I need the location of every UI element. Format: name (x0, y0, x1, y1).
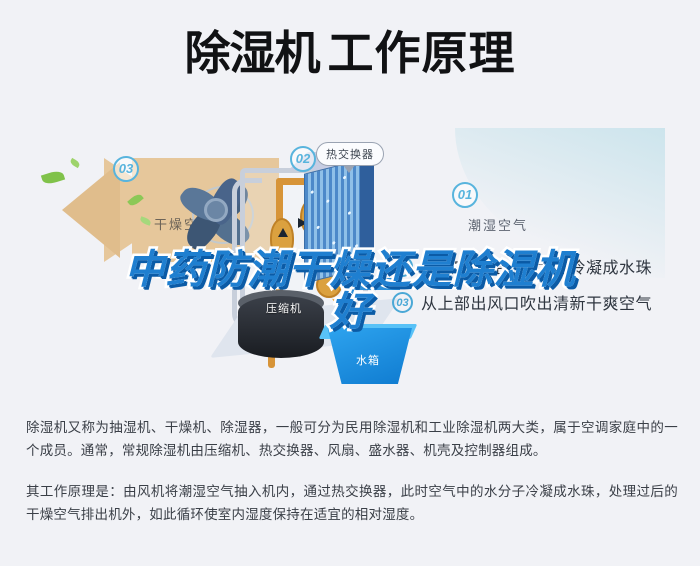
list-item: 02 潮湿空气经过蒸发器冷凝成水珠 (392, 248, 692, 284)
page-header: 除湿机工作原理 (0, 18, 700, 98)
step-bullet-list: 02 潮湿空气经过蒸发器冷凝成水珠 03 从上部出风口吹出清新干爽空气 (392, 248, 692, 320)
bullet-badge: 03 (392, 292, 413, 313)
condensation-droplets (305, 160, 365, 283)
humid-air-label: 潮湿空气 (468, 215, 528, 234)
dry-air-arrow-head (62, 162, 120, 258)
diagram-badge-01-label: 01 (458, 187, 472, 202)
page-title-part-a: 除湿机 (185, 27, 320, 79)
bullet-badge: 02 (392, 256, 413, 277)
evaporator-fins (304, 158, 366, 283)
evaporator-side (360, 154, 374, 273)
paragraph-1: 除湿机又称为抽湿机、干燥机、除湿器，一般可分为民用除湿机和工业除湿机两大类，属于… (26, 416, 678, 462)
fan-hub (204, 198, 228, 222)
diagram-badge-01: 01 (452, 182, 478, 208)
bullet-text: 潮湿空气经过蒸发器冷凝成水珠 (421, 254, 652, 278)
list-item: 03 从上部出风口吹出清新干爽空气 (392, 284, 692, 320)
page-title: 除湿机工作原理 (185, 18, 516, 88)
diagram-badge-03-label: 03 (119, 161, 133, 176)
flow-arrow-up-icon (278, 228, 288, 237)
paragraph-2: 其工作原理是：由风机将潮湿空气抽入机内，通过热交换器，此时空气中的水分子冷凝成水… (26, 480, 678, 526)
bullet-text: 从上部出风口吹出清新干爽空气 (421, 290, 652, 314)
diagram-badge-03: 03 (113, 156, 139, 182)
compressor-label: 压缩机 (266, 300, 302, 316)
article-body: 除湿机又称为抽湿机、干燥机、除湿器，一般可分为民用除湿机和工业除湿机两大类，属于… (26, 416, 678, 526)
page-root: 除湿机工作原理 干燥空气 (0, 0, 700, 566)
heat-exchanger-callout: 热交换器 (316, 142, 384, 166)
page-title-part-b: 工作原理 (328, 27, 516, 79)
water-tank-label: 水箱 (356, 352, 380, 368)
heat-exchanger-callout-label: 热交换器 (326, 149, 374, 161)
refrigerant-valve (270, 218, 294, 258)
diagram-badge-02: 02 (290, 146, 316, 172)
diagram-badge-02-label: 02 (296, 151, 310, 166)
